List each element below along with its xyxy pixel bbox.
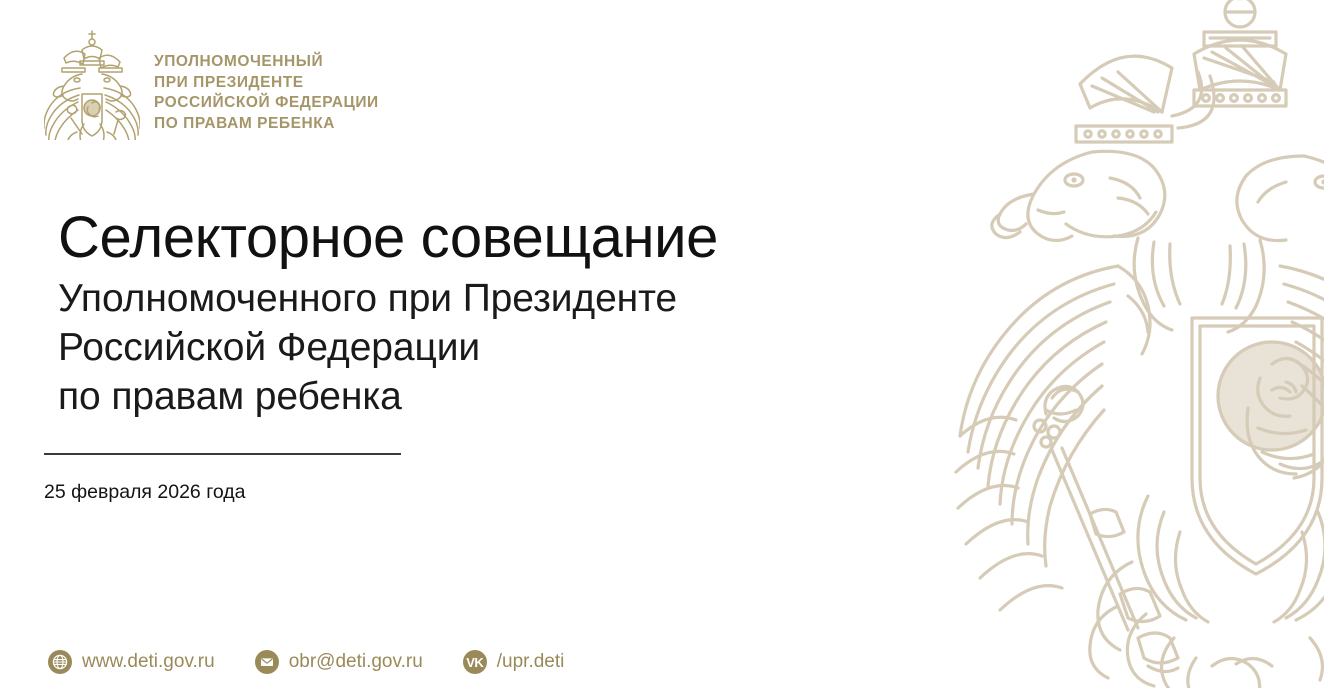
double-headed-eagle-emblem-icon: [44, 28, 140, 140]
envelope-icon: [255, 650, 279, 674]
contact-website[interactable]: www.deti.gov.ru: [48, 650, 215, 674]
title-divider: [44, 453, 401, 455]
organization-logo: УПОЛНОМОЧЕННЫЙ ПРИ ПРЕЗИДЕНТЕ РОССИЙСКОЙ…: [44, 28, 379, 140]
page-title: Селекторное совещание: [58, 204, 718, 272]
logo-line-4: ПО ПРАВАМ РЕБЕНКА: [154, 114, 379, 135]
subtitle-line-1: Уполномоченного при Президенте: [58, 274, 718, 323]
vk-glyph: VK: [466, 656, 483, 669]
logo-line-3: РОССИЙСКОЙ ФЕДЕРАЦИИ: [154, 93, 379, 114]
page-subtitle: Уполномоченного при Президенте Российско…: [58, 274, 718, 421]
subtitle-line-2: Российской Федерации: [58, 323, 718, 372]
presentation-slide: УПОЛНОМОЧЕННЫЙ ПРИ ПРЕЗИДЕНТЕ РОССИЙСКОЙ…: [0, 0, 1324, 688]
russian-coat-of-arms-watermark-icon: [942, 0, 1324, 688]
globe-icon: [48, 650, 72, 674]
contact-email[interactable]: obr@deti.gov.ru: [255, 650, 423, 674]
logo-line-2: ПРИ ПРЕЗИДЕНТЕ: [154, 73, 379, 94]
website-label: www.deti.gov.ru: [82, 650, 215, 674]
event-date: 25 февраля 2026 года: [44, 479, 246, 505]
vk-label: /upr.deti: [497, 650, 565, 674]
vk-icon: VK: [463, 650, 487, 674]
footer-contacts: www.deti.gov.ru obr@deti.gov.ru VK /upr.…: [48, 650, 564, 674]
email-label: obr@deti.gov.ru: [289, 650, 423, 674]
logo-line-1: УПОЛНОМОЧЕННЫЙ: [154, 52, 379, 73]
title-block: Селекторное совещание Уполномоченного пр…: [58, 204, 718, 421]
organization-name: УПОЛНОМОЧЕННЫЙ ПРИ ПРЕЗИДЕНТЕ РОССИЙСКОЙ…: [154, 28, 379, 134]
contact-vk[interactable]: VK /upr.deti: [463, 650, 565, 674]
subtitle-line-3: по правам ребенка: [58, 372, 718, 421]
